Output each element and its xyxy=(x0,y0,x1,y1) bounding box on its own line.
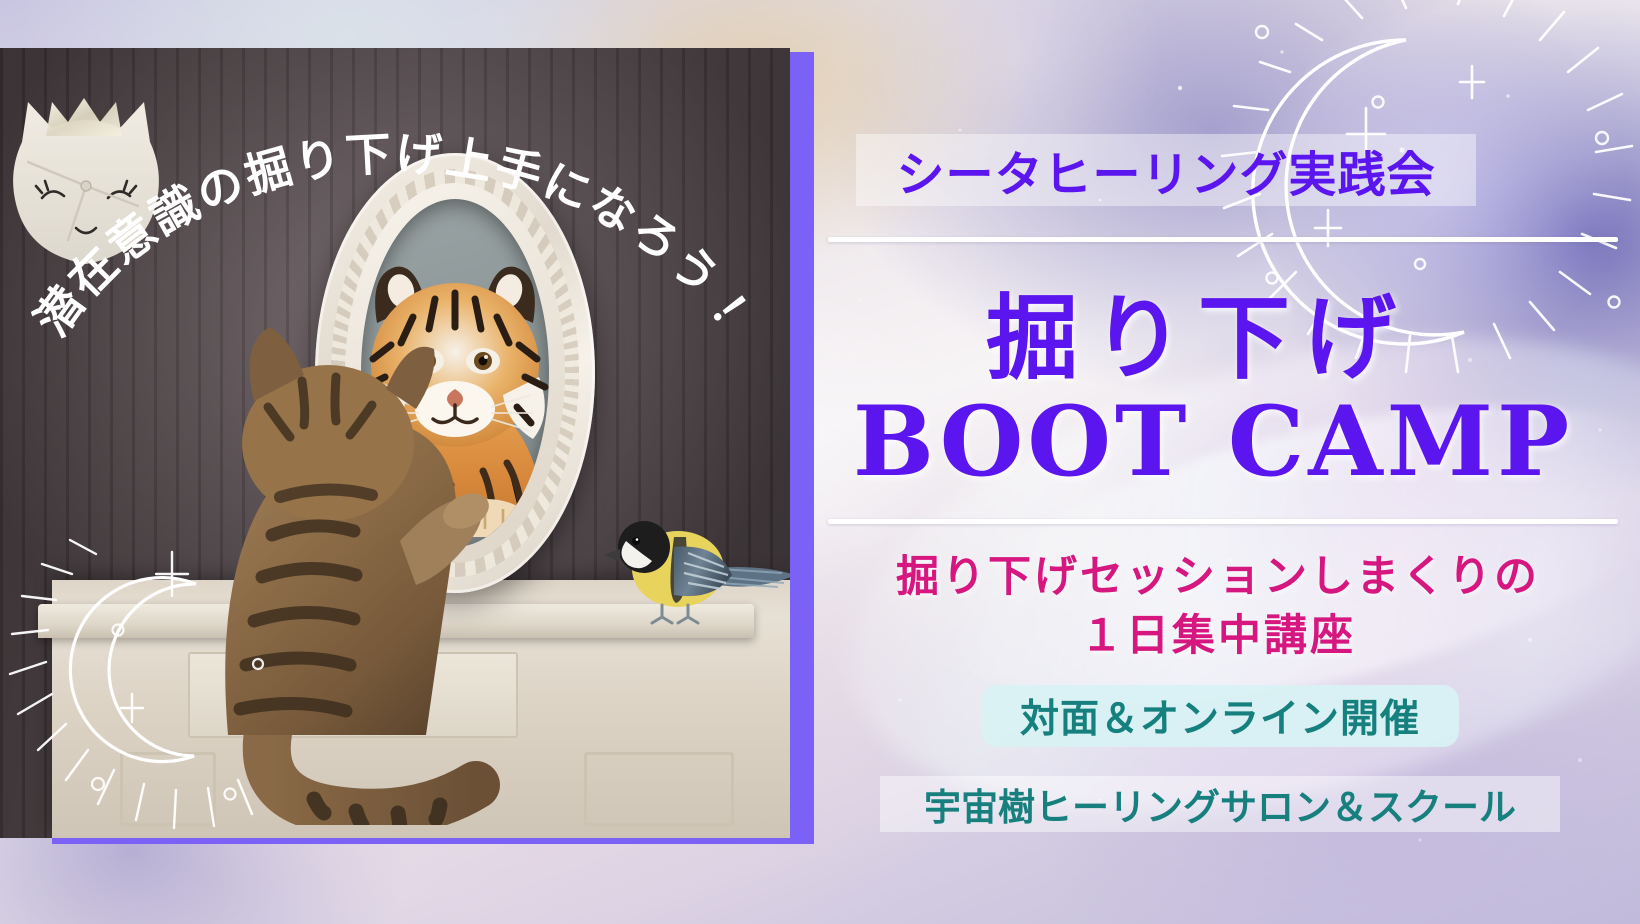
main-title-jp: 掘り下げ xyxy=(818,290,1578,387)
divider-top xyxy=(828,237,1618,242)
photo-panel: 潜在意識の掘り下げ上手になろう！ xyxy=(0,48,810,848)
photo-arched-headline: 潜在意識の掘り下げ上手になろう！ xyxy=(0,48,790,378)
kicker-band: シータヒーリング実践会 xyxy=(856,134,1476,206)
main-title-en: BOOT CAMP xyxy=(818,392,1608,492)
format-badge-text: 対面＆オンライン開催 xyxy=(1020,688,1420,744)
divider-middle xyxy=(828,519,1618,524)
organization-text: 宇宙樹ヒーリングサロン＆スクール xyxy=(924,777,1516,831)
format-badge: 対面＆オンライン開催 xyxy=(981,685,1459,747)
svg-text:潜在意識の掘り下げ上手になろう！: 潜在意識の掘り下げ上手になろう！ xyxy=(25,126,766,346)
kicker-text: シータヒーリング実践会 xyxy=(896,135,1435,205)
arched-headline-text: 潜在意識の掘り下げ上手になろう！ xyxy=(25,126,766,346)
cat-mirror-photo: 潜在意識の掘り下げ上手になろう！ xyxy=(0,48,790,838)
dresser-panel-right xyxy=(584,752,734,826)
subtitle-line-1: 掘り下げセッションしまくりの xyxy=(896,552,1540,602)
organization-band: 宇宙樹ヒーリングサロン＆スクール xyxy=(880,776,1560,832)
great-tit-bird xyxy=(600,507,790,642)
subtitle-block: 掘り下げセッションしまくりの １日集中講座 xyxy=(818,548,1618,667)
photo-moon-rays-decor xyxy=(0,538,440,838)
content-panel: シータヒーリング実践会 掘り下げ BOOT CAMP 掘り下げセッションしまくり… xyxy=(818,0,1640,924)
promotional-banner: 潜在意識の掘り下げ上手になろう！ xyxy=(0,0,1640,924)
subtitle-line-2: １日集中講座 xyxy=(818,607,1618,666)
